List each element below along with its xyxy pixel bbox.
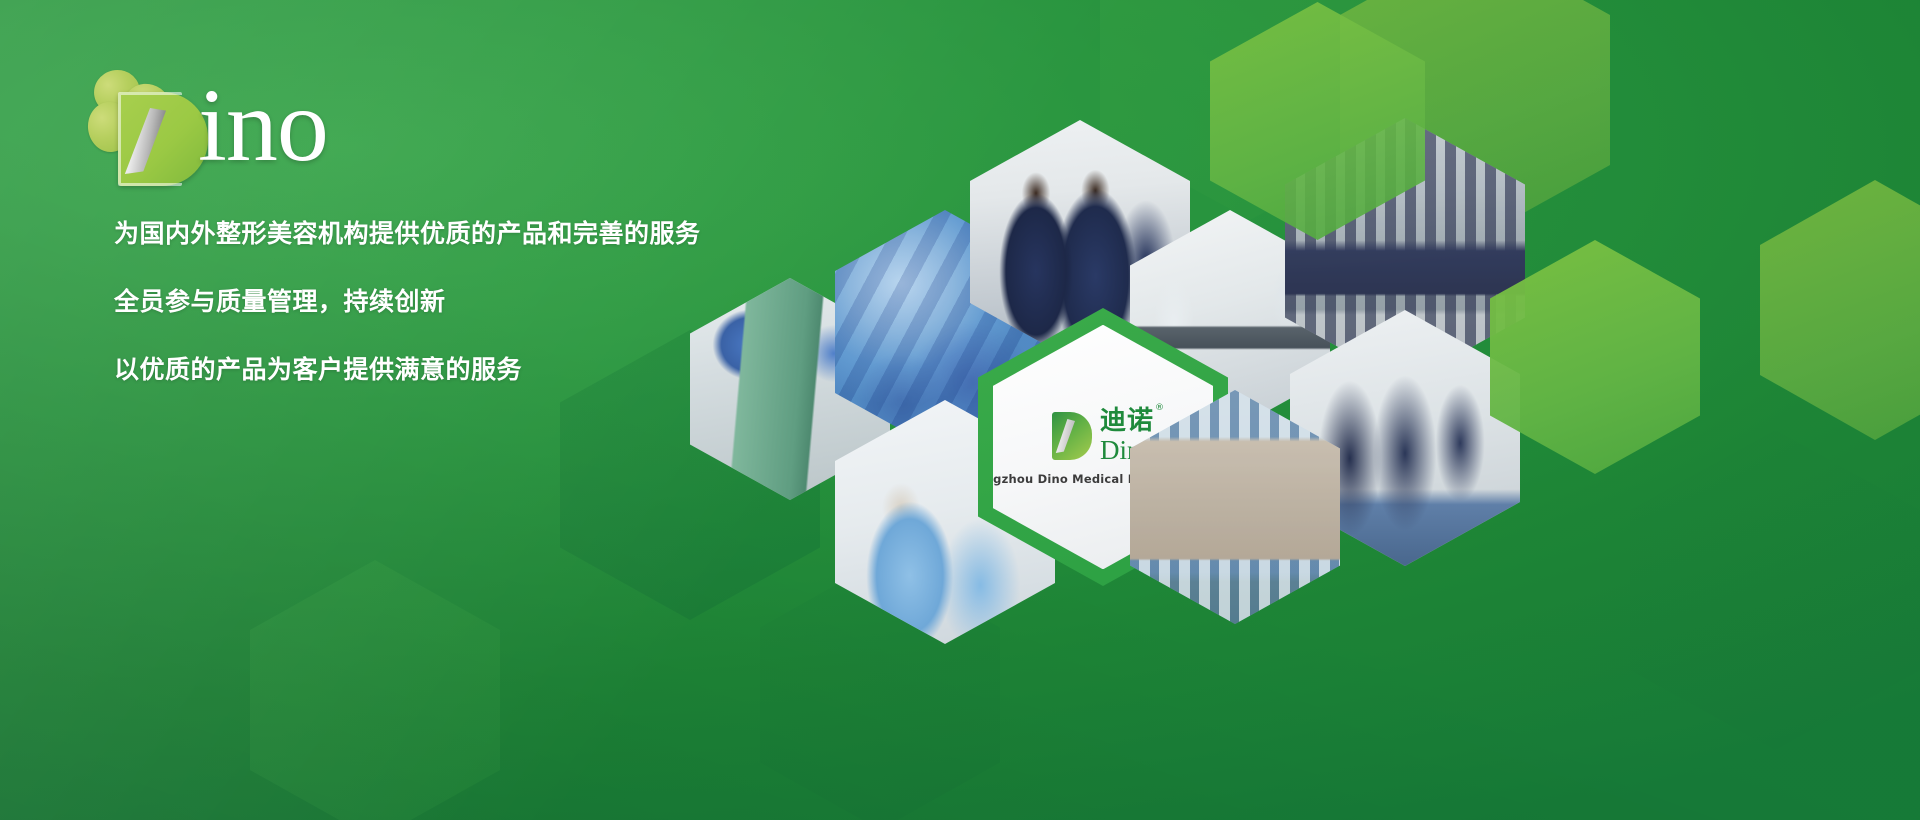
logo-d-mark-icon [118, 92, 208, 186]
hexagon-photo-cluster: 迪诺® Dino Hangzhou Dino Medical Instrumen… [690, 110, 1920, 580]
brand-d-mark-icon [1052, 412, 1092, 460]
registered-trademark-icon: ® [1155, 404, 1165, 413]
hero-banner: ino 为国内外整形美容机构提供优质的产品和完善的服务 全员参与质量管理，持续创… [0, 0, 1920, 820]
dino-logo: ino [88, 66, 388, 186]
logo-wordmark: ino [198, 74, 328, 178]
brand-name-cn: 迪诺® [1100, 408, 1154, 434]
